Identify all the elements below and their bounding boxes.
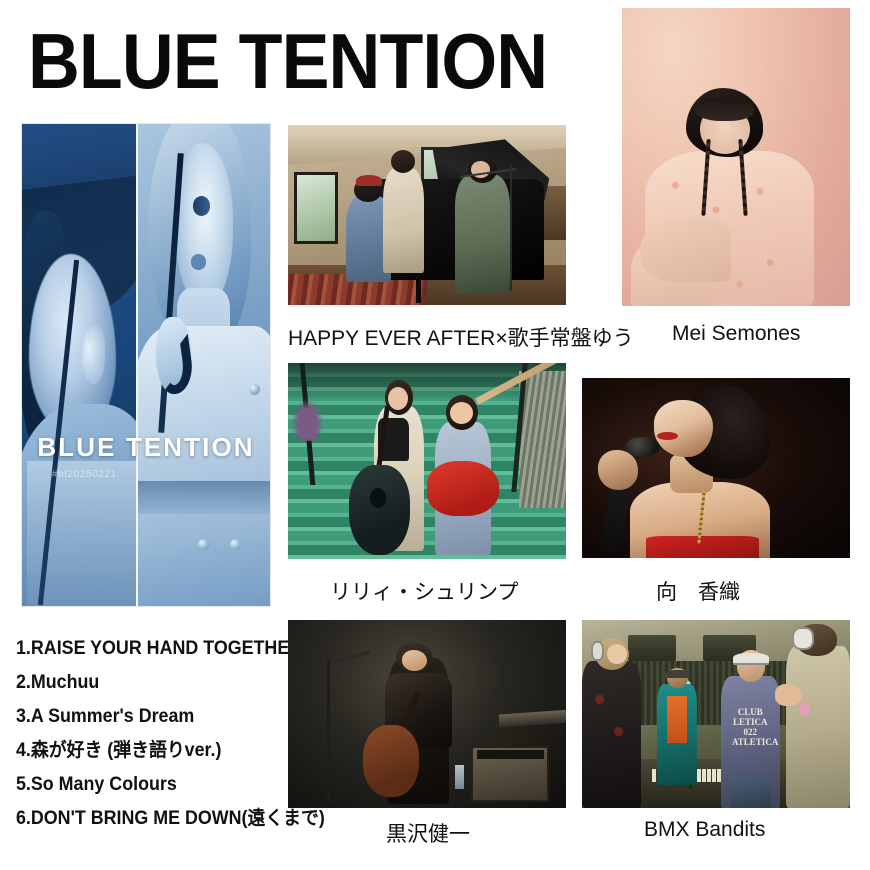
electric-guitar-red: [427, 461, 499, 516]
caption-happy-ever-after: HAPPY EVER AFTER×歌手常盤ゆう: [288, 322, 634, 352]
musician-green-jacket: [455, 175, 511, 294]
person-khaki-shirt: [786, 646, 850, 808]
metal-shutter: [519, 371, 566, 508]
face: [654, 400, 713, 458]
caption-lily-shrimp: リリィ・シュリンプ: [330, 576, 518, 606]
coat-button: [230, 539, 241, 550]
person-floral-dress: [582, 661, 641, 808]
coat-button: [198, 539, 209, 550]
poster-right-face: [175, 143, 233, 307]
photo-bmx-bandits: CLUB LETICA 022 ATLETICA: [582, 620, 850, 808]
poster-left-panel: [22, 124, 136, 606]
microphone-stand: [510, 165, 512, 291]
caption-kurosawa-kenichi: 黒沢健一: [386, 818, 470, 848]
poster-hashtag: #bt20250221: [52, 469, 117, 480]
poster-left-nose: [82, 326, 105, 384]
microphone-head-icon: [625, 437, 660, 457]
musician-head: [391, 150, 415, 173]
red-dress: [646, 536, 759, 558]
photo-mukai-kaori: [582, 378, 850, 558]
coat-button: [249, 384, 260, 395]
poster-right-eye: [193, 196, 210, 215]
caption-bmx-bandits: BMX Bandits: [644, 818, 765, 842]
person-face: [607, 644, 627, 665]
musician-beige-dress: [383, 168, 425, 272]
album-poster: BLUE TENTION #bt20250221: [22, 124, 270, 606]
orange-shirt: [667, 696, 686, 743]
water-bottle: [455, 765, 464, 789]
red-cap-icon: [356, 175, 382, 185]
person-teal-jacket: [657, 684, 697, 786]
acoustic-guitar: [349, 465, 410, 555]
poster-page: BLUE TENTION: [0, 0, 870, 870]
headphones-icon: [665, 670, 690, 678]
track-item: 4.森が好き (弾き語りver.): [16, 734, 289, 768]
photo-kurosawa-kenichi: [288, 620, 566, 808]
amp-control-panel: [477, 750, 544, 759]
pink-badge: [800, 701, 810, 717]
tracklist: 1.RAISE YOUR HAND TOGETHER 2.Muchuu 3.A …: [16, 632, 306, 836]
pointing-hand: [775, 684, 802, 707]
jeans: [731, 776, 771, 808]
photo-mei-semones: [622, 8, 850, 306]
acoustic-panel: [628, 635, 676, 661]
page-title: BLUE TENTION: [28, 18, 547, 104]
headphones-icon: [733, 653, 768, 665]
caption-mei-semones: Mei Semones: [672, 322, 800, 346]
piano-leg: [416, 269, 421, 303]
guitarist-face: [402, 650, 427, 671]
photo-lily-shrimp: [288, 363, 566, 559]
headphones-icon: [591, 641, 604, 662]
poster-wordmark: BLUE TENTION: [22, 432, 270, 463]
plant: [291, 398, 324, 441]
arms: [640, 217, 731, 283]
track-item: 3.A Summer's Dream: [16, 700, 289, 734]
microphone-stand: [327, 659, 330, 802]
photo-happy-ever-after: [288, 125, 566, 305]
poster-right-lips: [191, 254, 207, 269]
track-item: 5.So Many Colours: [16, 768, 289, 802]
person-grey-tshirt: CLUB LETICA 022 ATLETICA: [721, 676, 780, 808]
track-item: 6.DON'T BRING ME DOWN(遠くまで): [16, 802, 289, 836]
poster-right-panel: [138, 124, 270, 606]
studio-window-left: [294, 172, 338, 244]
caption-mukai-kaori: 向 香織: [656, 576, 740, 606]
tshirt-print: CLUB LETICA 022 ATLETICA: [732, 705, 769, 744]
poster-divider: [136, 124, 137, 606]
bangs: [695, 97, 754, 121]
poster-right-belt: [138, 481, 270, 515]
track-item: 1.RAISE YOUR HAND TOGETHER: [16, 632, 289, 666]
hollowbody-guitar: [363, 725, 419, 796]
hand: [598, 450, 638, 490]
track-item: 2.Muchuu: [16, 666, 289, 700]
headphones-icon: [792, 627, 814, 650]
